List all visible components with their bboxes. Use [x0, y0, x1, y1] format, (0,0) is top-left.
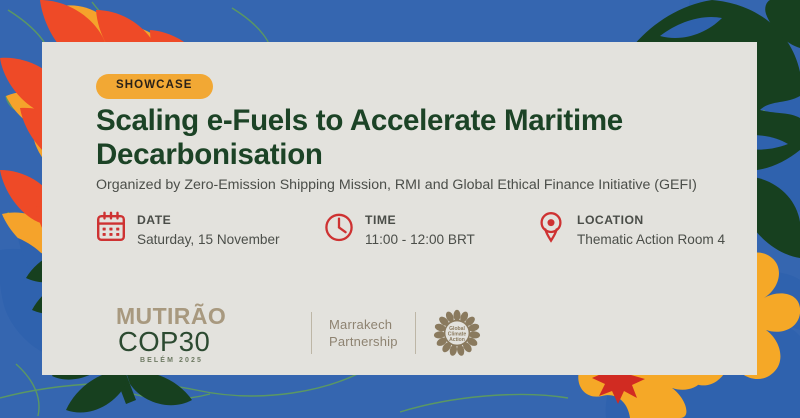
organizers-subtitle: Organized by Zero-Emission Shipping Miss…: [96, 176, 756, 194]
location-value: Thematic Action Room 4: [577, 231, 725, 249]
page-title: Scaling e-Fuels to Accelerate Maritime D…: [96, 104, 736, 172]
mp-line-2: Partnership: [329, 334, 398, 349]
title-line-1: Scaling e-Fuels to Accelerate Maritime: [96, 104, 623, 137]
location-label: LOCATION: [577, 213, 644, 227]
time-label: TIME: [365, 213, 396, 227]
cop30-logo-top: MUTIRÃO: [116, 302, 226, 329]
cop30-logo: MUTIRÃO COP30 BELÉM 2025: [114, 300, 294, 366]
event-location-text: LOCATION Thematic Action Room 4: [577, 210, 725, 249]
event-date-block: DATE Saturday, 15 November: [96, 210, 280, 249]
date-label: DATE: [137, 213, 171, 227]
logo-divider-1: [311, 312, 312, 354]
seal-line-3: Action: [449, 337, 465, 343]
event-location-block: LOCATION Thematic Action Room 4: [536, 210, 725, 249]
time-value: 11:00 - 12:00 BRT: [365, 231, 475, 249]
calendar-icon: [96, 211, 126, 243]
cop30-logo-sub: BELÉM 2025: [140, 355, 203, 364]
event-banner: SHOWCASE Scaling e-Fuels to Accelerate M…: [0, 0, 800, 418]
date-value: Saturday, 15 November: [137, 231, 280, 249]
title-line-2: Decarbonisation: [96, 138, 323, 171]
global-climate-action-seal: Global Climate Action: [433, 309, 481, 357]
marrakech-partnership-label: Marrakech Partnership: [329, 316, 398, 350]
cop30-logo-main: COP30: [118, 326, 210, 357]
clock-icon: [324, 211, 354, 243]
mp-line-1: Marrakech: [329, 317, 392, 332]
logo-row: MUTIRÃO COP30 BELÉM 2025 Marrakech Partn…: [114, 300, 481, 366]
event-details-row: DATE Saturday, 15 November TIME 11:00 - …: [96, 210, 746, 258]
showcase-badge: SHOWCASE: [96, 74, 213, 99]
content-card: SHOWCASE Scaling e-Fuels to Accelerate M…: [42, 42, 757, 375]
map-pin-icon: [536, 211, 566, 243]
event-time-block: TIME 11:00 - 12:00 BRT: [324, 210, 475, 249]
event-date-text: DATE Saturday, 15 November: [137, 210, 280, 249]
logo-divider-2: [415, 312, 416, 354]
event-time-text: TIME 11:00 - 12:00 BRT: [365, 210, 475, 249]
